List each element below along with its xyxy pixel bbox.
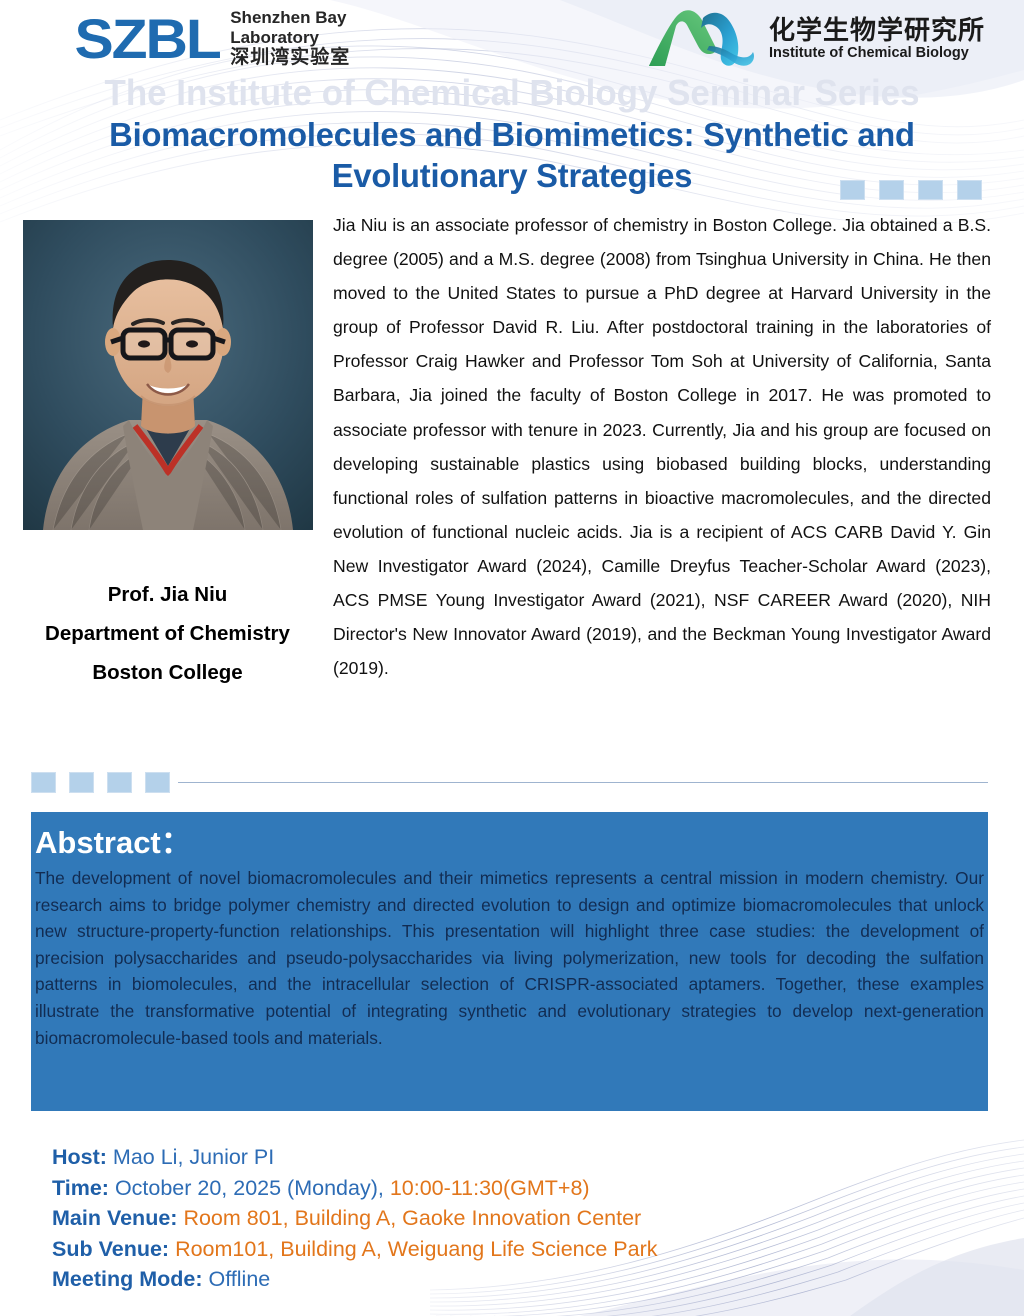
- meeting-mode-label: Meeting Mode:: [52, 1267, 203, 1291]
- time-date-value: October 20, 2025 (Monday),: [115, 1176, 384, 1200]
- abstract-heading: Abstract：: [35, 823, 984, 863]
- time-label: Time:: [52, 1176, 109, 1200]
- decorative-square: [879, 180, 904, 200]
- detail-row-time: Time: October 20, 2025 (Monday), 10:00-1…: [52, 1173, 658, 1204]
- szbl-logo: SZBL Shenzhen Bay Laboratory 深圳湾实验室: [78, 8, 350, 69]
- section-divider-line: [178, 782, 988, 783]
- event-details: Host: Mao Li, Junior PI Time: October 20…: [52, 1142, 658, 1295]
- icb-name-english: Institute of Chemical Biology: [769, 45, 985, 61]
- host-label: Host:: [52, 1145, 107, 1169]
- detail-row-host: Host: Mao Li, Junior PI: [52, 1142, 658, 1173]
- icb-logo: 化学生物学研究所 Institute of Chemical Biology: [645, 8, 985, 70]
- speaker-photo: [23, 220, 313, 530]
- szbl-name-line1: Shenzhen Bay: [230, 8, 350, 28]
- main-venue-value: Room 801, Building A, Gaoke Innovation C…: [183, 1206, 641, 1230]
- decorative-square: [31, 772, 56, 793]
- speaker-info: Prof. Jia Niu Department of Chemistry Bo…: [15, 575, 320, 692]
- page-title: Biomacromolecules and Biomimetics: Synth…: [65, 114, 960, 196]
- detail-row-meeting-mode: Meeting Mode: Offline: [52, 1264, 658, 1295]
- time-clock-value: 10:00-11:30(GMT+8): [390, 1176, 590, 1200]
- decorative-square: [918, 180, 943, 200]
- decorative-square: [145, 772, 170, 793]
- szbl-name-line2: Laboratory: [230, 28, 350, 48]
- meeting-mode-value: Offline: [208, 1267, 270, 1291]
- portrait-illustration-icon: [23, 220, 313, 530]
- host-value: Mao Li, Junior PI: [113, 1145, 274, 1169]
- decorative-squares-divider: [31, 772, 183, 793]
- speaker-name: Prof. Jia Niu: [15, 575, 320, 614]
- decorative-square: [840, 180, 865, 200]
- main-venue-label: Main Venue:: [52, 1206, 177, 1230]
- szbl-logo-text: Shenzhen Bay Laboratory 深圳湾实验室: [230, 8, 350, 69]
- seminar-poster: SZBL Shenzhen Bay Laboratory 深圳湾实验室: [0, 0, 1024, 1316]
- icb-name-chinese: 化学生物学研究所: [769, 16, 985, 45]
- detail-row-sub-venue: Sub Venue: Room101, Building A, Weiguang…: [52, 1234, 658, 1265]
- decorative-square: [107, 772, 132, 793]
- speaker-department: Department of Chemistry: [15, 614, 320, 653]
- decorative-squares-title: [840, 180, 996, 200]
- decorative-square: [69, 772, 94, 793]
- abstract-section: Abstract： The development of novel bioma…: [31, 812, 988, 1111]
- sub-venue-value: Room101, Building A, Weiguang Life Scien…: [175, 1237, 657, 1261]
- abstract-body: The development of novel biomacromolecul…: [35, 865, 984, 1051]
- seminar-series-watermark: The Institute of Chemical Biology Semina…: [15, 72, 1008, 114]
- szbl-wordmark-icon: SZBL: [75, 11, 220, 67]
- icb-logo-text: 化学生物学研究所 Institute of Chemical Biology: [769, 16, 985, 61]
- speaker-biography: Jia Niu is an associate professor of che…: [333, 208, 991, 685]
- sub-venue-label: Sub Venue:: [52, 1237, 169, 1261]
- decorative-square: [957, 180, 982, 200]
- speaker-institution: Boston College: [15, 653, 320, 692]
- icb-mountain-mark-icon: [645, 8, 757, 70]
- detail-row-main-venue: Main Venue: Room 801, Building A, Gaoke …: [52, 1203, 658, 1234]
- szbl-name-chinese: 深圳湾实验室: [230, 47, 350, 69]
